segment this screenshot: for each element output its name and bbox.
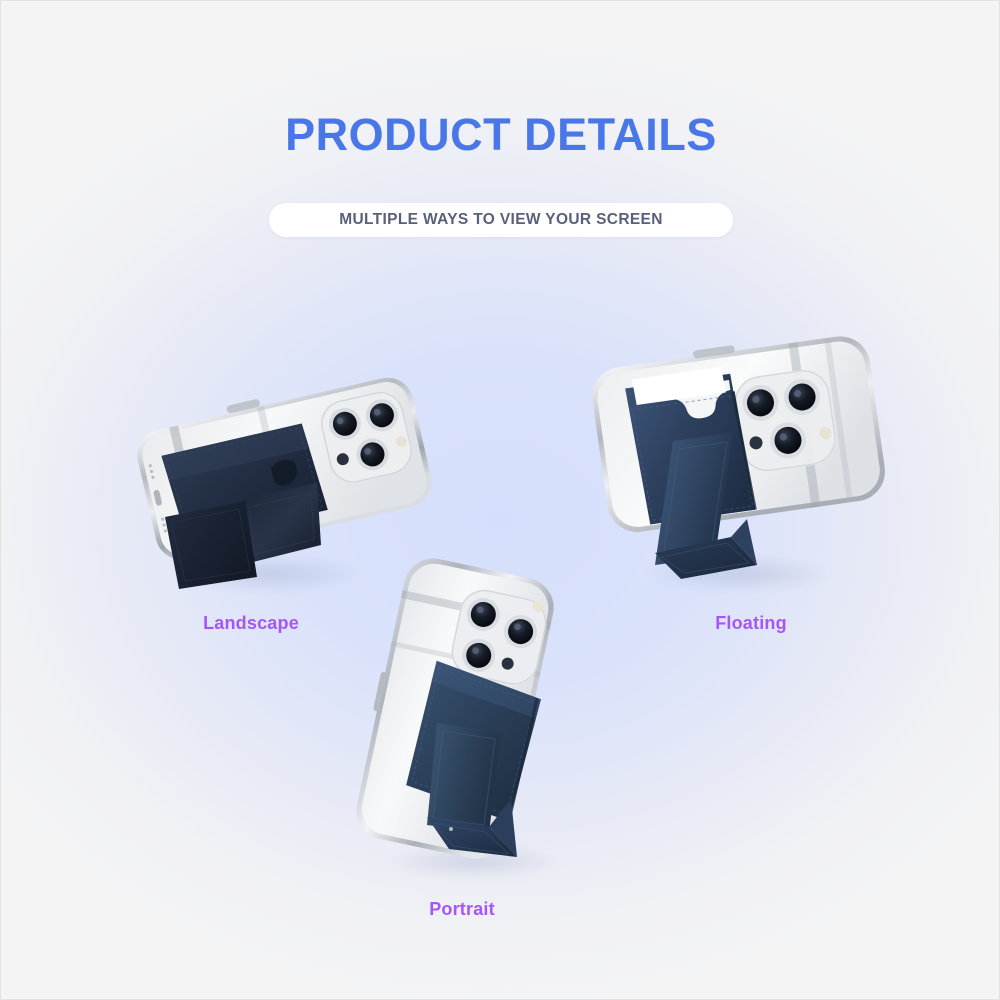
product-details-poster: PRODUCT DETAILS MULTIPLE WAYS TO VIEW YO… xyxy=(0,0,1000,1000)
product-image-portrait xyxy=(331,561,611,891)
subtitle-pill: MULTIPLE WAYS TO VIEW YOUR SCREEN xyxy=(269,203,733,237)
caption-portrait: Portrait xyxy=(362,899,562,920)
caption-landscape: Landscape xyxy=(151,613,351,634)
caption-floating: Floating xyxy=(651,613,851,634)
camera-module-floating xyxy=(731,366,839,474)
subtitle-pill-label: MULTIPLE WAYS TO VIEW YOUR SCREEN xyxy=(339,211,663,229)
product-image-floating xyxy=(581,321,901,601)
page-title: PRODUCT DETAILS xyxy=(1,109,1000,161)
kickstand-leg-portrait xyxy=(427,723,501,833)
